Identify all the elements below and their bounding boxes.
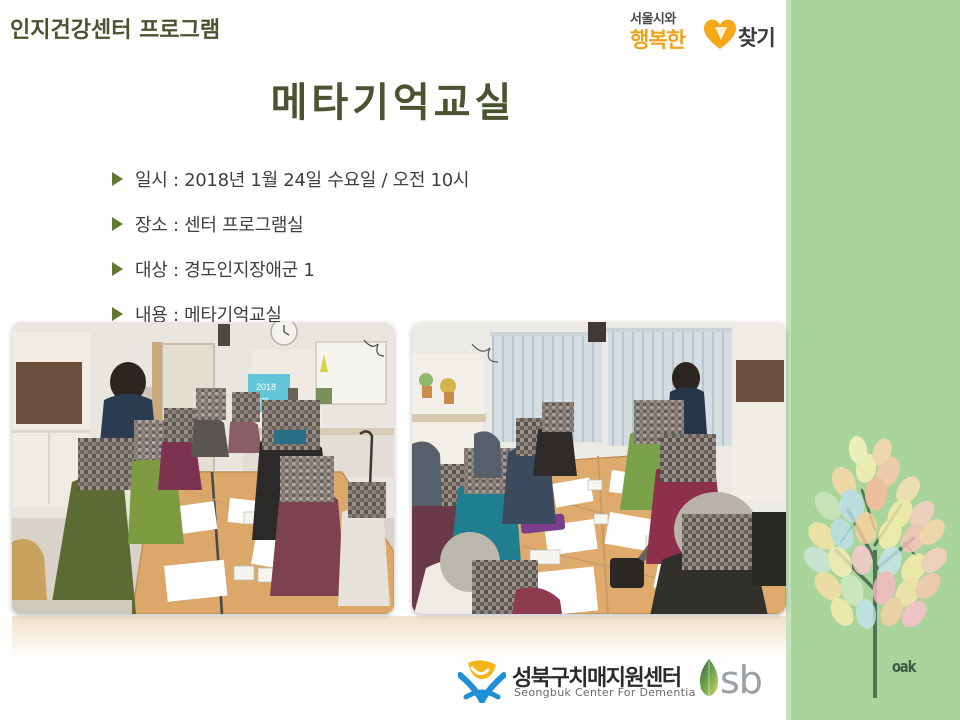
seongbuk-center-logo: 성북구치매지원센터 Seongbuk Center For Dementia s… xyxy=(458,655,768,711)
person-logo-icon xyxy=(458,659,506,703)
list-item: 대상 : 경도인지장애군 1 xyxy=(112,246,732,291)
brand-logo-line2: 행복한 xyxy=(630,24,685,54)
info-list: 일시 : 2018년 1월 24일 수요일 / 오전 10시 장소 : 센터 프… xyxy=(112,156,732,336)
footer-logo-english-name: Seongbuk Center For Dementia xyxy=(514,686,696,699)
pastel-tree-icon: oak xyxy=(796,410,956,710)
orange-heart-icon xyxy=(702,18,738,50)
list-item: 장소 : 센터 프로그램실 xyxy=(112,201,732,246)
sb-wordmark: sb xyxy=(720,657,762,703)
main-title: 메타기억교실 xyxy=(0,70,786,128)
list-item-label: 대상 : 경도인지장애군 1 xyxy=(135,256,315,282)
classroom-photo-right xyxy=(412,322,786,614)
green-side-panel: oak xyxy=(786,0,960,720)
classroom-photo-left: 2018 새해 xyxy=(12,322,394,614)
svg-text:2018: 2018 xyxy=(256,382,276,392)
list-item-label: 장소 : 센터 프로그램실 xyxy=(135,211,303,237)
list-item-label: 일시 : 2018년 1월 24일 수요일 / 오전 10시 xyxy=(135,166,469,192)
page-title: 인지건강센터 프로그램 xyxy=(10,12,220,44)
triangle-bullet-icon xyxy=(112,307,123,321)
tree-signature: oak xyxy=(892,658,915,677)
list-item: 일시 : 2018년 1월 24일 수요일 / 오전 10시 xyxy=(112,156,732,201)
brand-logo-line3: 찾기 xyxy=(738,22,775,52)
feather-icon xyxy=(696,657,722,705)
slide-root: oak 인지건강센터 프로그램 서울시와 행복한 찾기 메타기억교실 일시 : … xyxy=(0,0,960,720)
triangle-bullet-icon xyxy=(112,217,123,231)
triangle-bullet-icon xyxy=(112,262,123,276)
seoul-happy-brand-logo: 서울시와 행복한 찾기 xyxy=(630,6,780,54)
triangle-bullet-icon xyxy=(112,172,123,186)
